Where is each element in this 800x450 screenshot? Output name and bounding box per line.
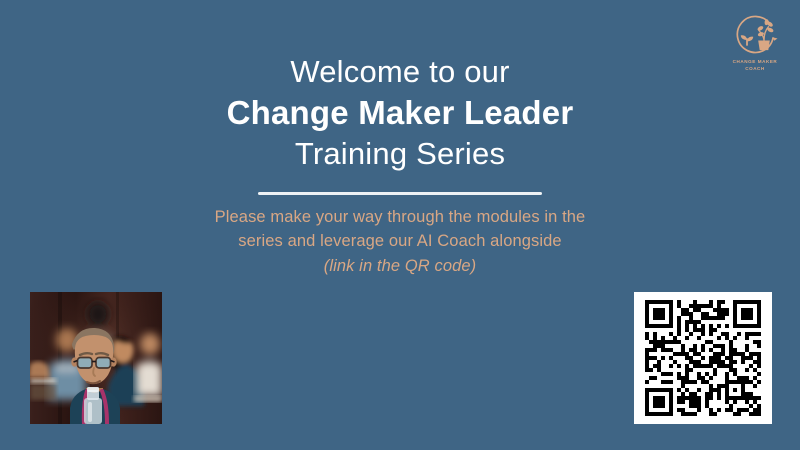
title-line-2: Change Maker Leader — [0, 92, 800, 134]
qr-code-image — [645, 300, 761, 416]
conference-audience-photo — [30, 292, 162, 424]
slide-canvas: CHANGE MAKER COACH Welcome to our Change… — [0, 0, 800, 450]
body-line-1: Please make your way through the modules… — [0, 205, 800, 229]
body-line-3: (link in the QR code) — [0, 254, 800, 278]
title-line-1: Welcome to our — [0, 52, 800, 92]
title-line-3: Training Series — [0, 134, 800, 174]
body-copy: Please make your way through the modules… — [0, 205, 800, 278]
divider — [258, 192, 542, 195]
page-title: Welcome to our Change Maker Leader Train… — [0, 52, 800, 174]
body-line-2: series and leverage our AI Coach alongsi… — [0, 229, 800, 253]
qr-code[interactable] — [634, 292, 772, 424]
